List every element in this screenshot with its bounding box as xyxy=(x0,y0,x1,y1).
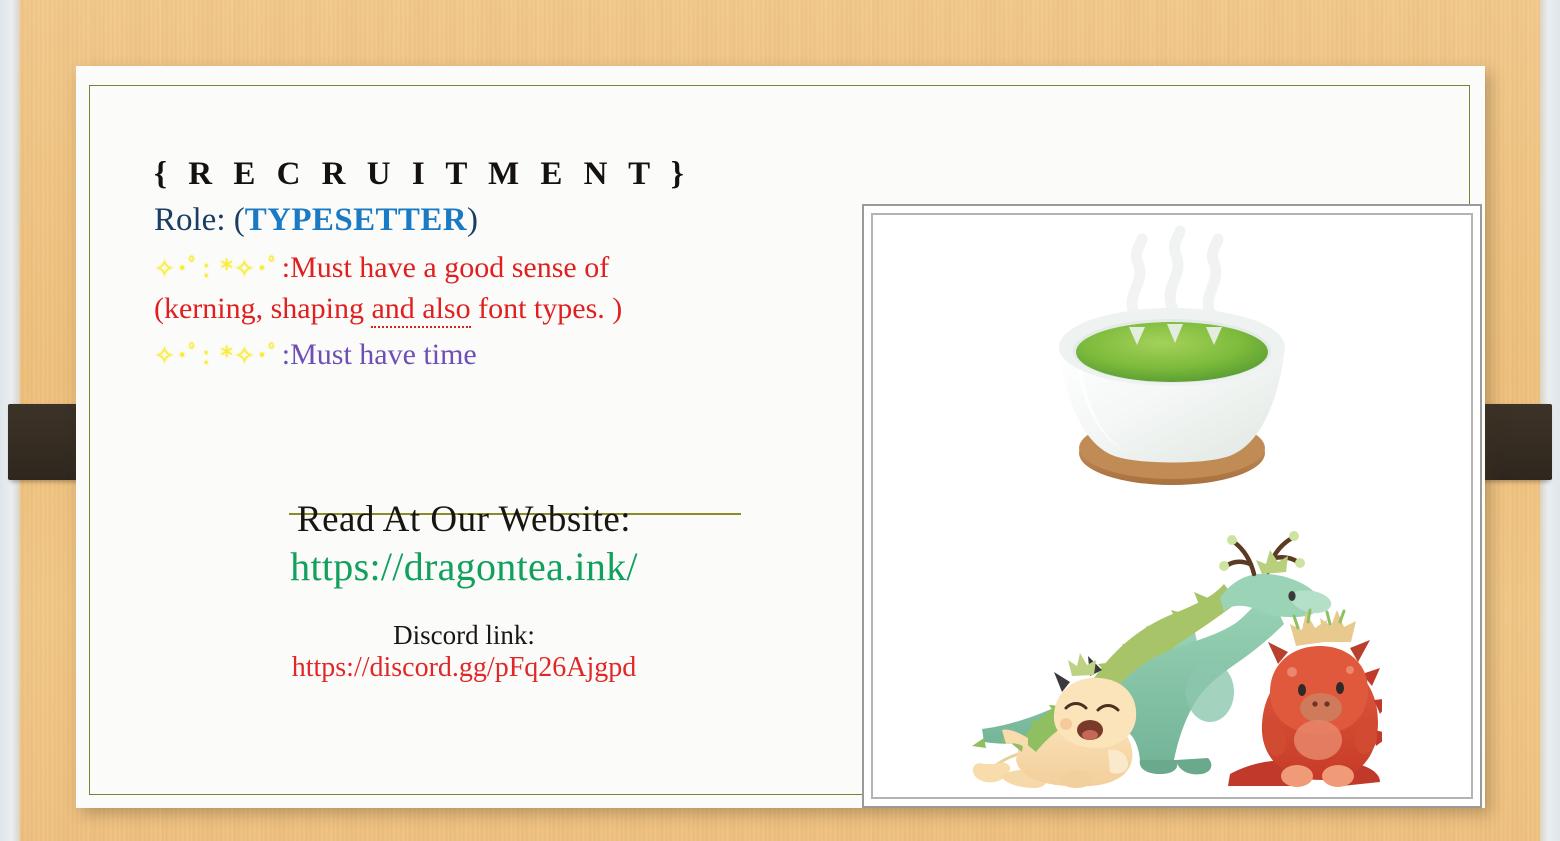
recruitment-text-column: { R E C R U I T M E N T } Role: (TYPESET… xyxy=(154,156,774,377)
requirement-2-colon: : xyxy=(282,338,290,371)
sparkle-icon: ✧･ﾟ: *✧･ﾟ xyxy=(154,254,282,283)
links-block: Read At Our Website: https://dragontea.i… xyxy=(154,498,774,684)
discord-label: Discord link: xyxy=(154,620,774,651)
role-close-paren: ) xyxy=(467,202,478,238)
discord-url-link[interactable]: https://discord.gg/pFq26Ajgpd xyxy=(154,652,774,684)
teacup-without-handle-icon xyxy=(1022,221,1322,511)
spellcheck-flagged-text: and also xyxy=(371,292,470,328)
green-dragon-eye xyxy=(1288,591,1295,601)
requirement-2-text: Must have time xyxy=(290,338,477,371)
website-url-link[interactable]: https://dragontea.ink/ xyxy=(154,543,774,590)
red-dragon-eye-left xyxy=(1298,684,1306,696)
requirement-1-cont-close: font types. ) xyxy=(471,292,623,325)
requirement-1-cont-open: (kerning, shaping xyxy=(154,292,371,325)
website-label: Read At Our Website: xyxy=(154,498,774,541)
picture-frame xyxy=(862,204,1482,808)
page-title: { R E C R U I T M E N T } xyxy=(154,156,774,193)
role-line: Role: (TYPESETTER) xyxy=(154,199,774,242)
three-dragons-illustration xyxy=(962,524,1382,789)
requirement-line-2: ✧･ﾟ: *✧･ﾟ:Must have time xyxy=(154,333,774,377)
red-dragon-eye-right xyxy=(1336,682,1344,694)
role-value: TYPESETTER xyxy=(245,202,467,238)
sparkle-icon-2: ✧･ﾟ: *✧･ﾟ xyxy=(154,341,282,370)
requirement-1-colon: : xyxy=(282,251,290,284)
picture-frame-inner xyxy=(871,213,1473,799)
role-label: Role: ( xyxy=(154,202,245,238)
slide-card: { R E C R U I T M E N T } Role: (TYPESET… xyxy=(76,66,1485,808)
requirement-1-text: Must have a good sense of xyxy=(290,251,609,284)
requirement-line-1-continued: (kerning, shaping and also font types. ) xyxy=(154,288,774,329)
steam-icon xyxy=(1132,231,1218,313)
requirement-line-1: ✧･ﾟ: *✧･ﾟ:Must have a good sense of xyxy=(154,246,774,290)
